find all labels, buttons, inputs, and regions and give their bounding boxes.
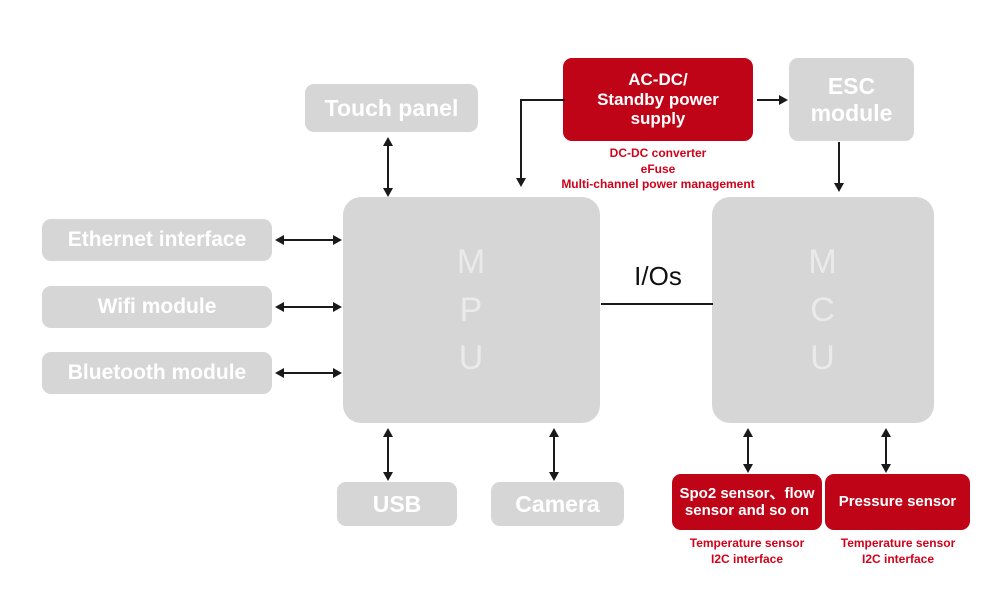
block-diagram-canvas: Touch panel AC-DC/ Standby power supply …	[0, 0, 1000, 600]
line-ios-bus	[601, 303, 713, 305]
block-esc-module[interactable]: ESC module	[789, 58, 914, 141]
block-power-supply[interactable]: AC-DC/ Standby power supply	[563, 58, 753, 141]
block-bluetooth-module[interactable]: Bluetooth module	[42, 352, 272, 394]
line-power-elbow-h	[520, 99, 565, 101]
arrow-power-to-esc	[779, 95, 788, 105]
line-mpu-camera	[553, 434, 555, 473]
caption-power-supply: DC-DC converter eFuse Multi-channel powe…	[558, 146, 758, 193]
line-mcu-pressure	[885, 434, 887, 468]
caption-pressure-sensor: Temperature sensor I2C interface	[816, 536, 980, 567]
line-mcu-spo2	[747, 434, 749, 468]
line-ethernet-mpu	[283, 239, 334, 241]
block-touch-panel[interactable]: Touch panel	[305, 84, 478, 132]
bus-label-ios: I/Os	[603, 261, 713, 292]
arrow-spo2-down	[743, 464, 753, 473]
arrow-esc-to-mcu	[834, 183, 844, 192]
arrow-touchpanel-down	[383, 188, 393, 197]
block-ethernet-interface[interactable]: Ethernet interface	[42, 219, 272, 261]
arrow-usb-down	[383, 472, 393, 481]
line-mpu-usb	[387, 434, 389, 473]
block-spo2-sensor[interactable]: Spo2 sensor、flow sensor and so on	[672, 474, 822, 530]
caption-spo2-sensor: Temperature sensor I2C interface	[665, 536, 829, 567]
line-bluetooth-mpu	[283, 372, 334, 374]
line-touchpanel-mpu	[387, 143, 389, 189]
arrow-power-to-mpu	[516, 178, 526, 187]
arrow-pressure-down	[881, 464, 891, 473]
arrow-ethernet-right	[333, 235, 342, 245]
arrow-bluetooth-right	[333, 368, 342, 378]
block-usb[interactable]: USB	[337, 482, 457, 526]
arrow-wifi-right	[333, 302, 342, 312]
block-pressure-sensor[interactable]: Pressure sensor	[825, 474, 970, 530]
line-wifi-mpu	[283, 306, 334, 308]
block-wifi-module[interactable]: Wifi module	[42, 286, 272, 328]
block-mpu[interactable]: M P U	[343, 197, 600, 423]
line-power-elbow-v	[520, 99, 522, 179]
block-camera[interactable]: Camera	[491, 482, 624, 526]
block-mcu[interactable]: M C U	[712, 197, 934, 423]
arrow-camera-down	[549, 472, 559, 481]
line-power-to-esc	[757, 99, 780, 101]
line-esc-to-mcu	[838, 142, 840, 184]
